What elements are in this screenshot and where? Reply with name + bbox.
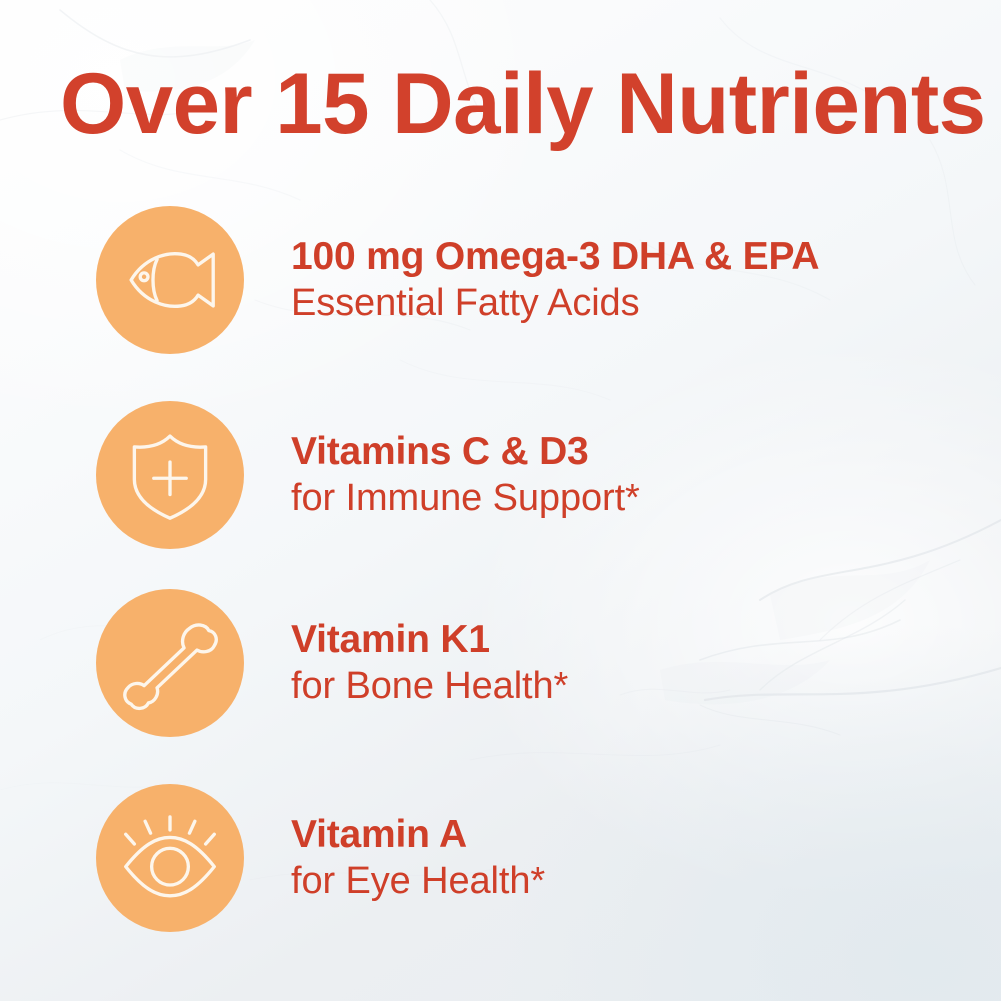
benefit-title: 100 mg Omega-3 DHA & EPA (291, 233, 819, 280)
benefit-text: Vitamins C & D3 for Immune Support* (291, 428, 640, 522)
benefit-subtitle: for Bone Health* (291, 663, 568, 710)
bone-icon (116, 609, 224, 717)
benefit-icon-badge (96, 401, 244, 549)
list-item: Vitamin A for Eye Health* (96, 783, 956, 933)
fish-icon (116, 226, 224, 334)
benefit-icon-badge (96, 784, 244, 932)
list-item: 100 mg Omega-3 DHA & EPA Essential Fatty… (96, 205, 956, 355)
benefit-subtitle: for Eye Health* (291, 858, 545, 905)
list-item: Vitamin K1 for Bone Health* (96, 588, 956, 738)
benefit-text: Vitamin A for Eye Health* (291, 811, 545, 905)
benefit-title: Vitamin K1 (291, 616, 568, 663)
shield-plus-icon (116, 421, 224, 529)
nutrient-benefits-poster: Over 15 Daily Nutrients 100 mg Omega-3 D… (0, 0, 1001, 1001)
benefit-title: Vitamins C & D3 (291, 428, 640, 475)
benefit-text: Vitamin K1 for Bone Health* (291, 616, 568, 710)
benefit-title: Vitamin A (291, 811, 545, 858)
benefit-list: 100 mg Omega-3 DHA & EPA Essential Fatty… (0, 0, 1001, 1001)
eye-icon (116, 804, 224, 912)
list-item: Vitamins C & D3 for Immune Support* (96, 400, 956, 550)
benefit-subtitle: for Immune Support* (291, 475, 640, 522)
benefit-text: 100 mg Omega-3 DHA & EPA Essential Fatty… (291, 233, 819, 327)
benefit-icon-badge (96, 589, 244, 737)
benefit-icon-badge (96, 206, 244, 354)
benefit-subtitle: Essential Fatty Acids (291, 280, 819, 327)
